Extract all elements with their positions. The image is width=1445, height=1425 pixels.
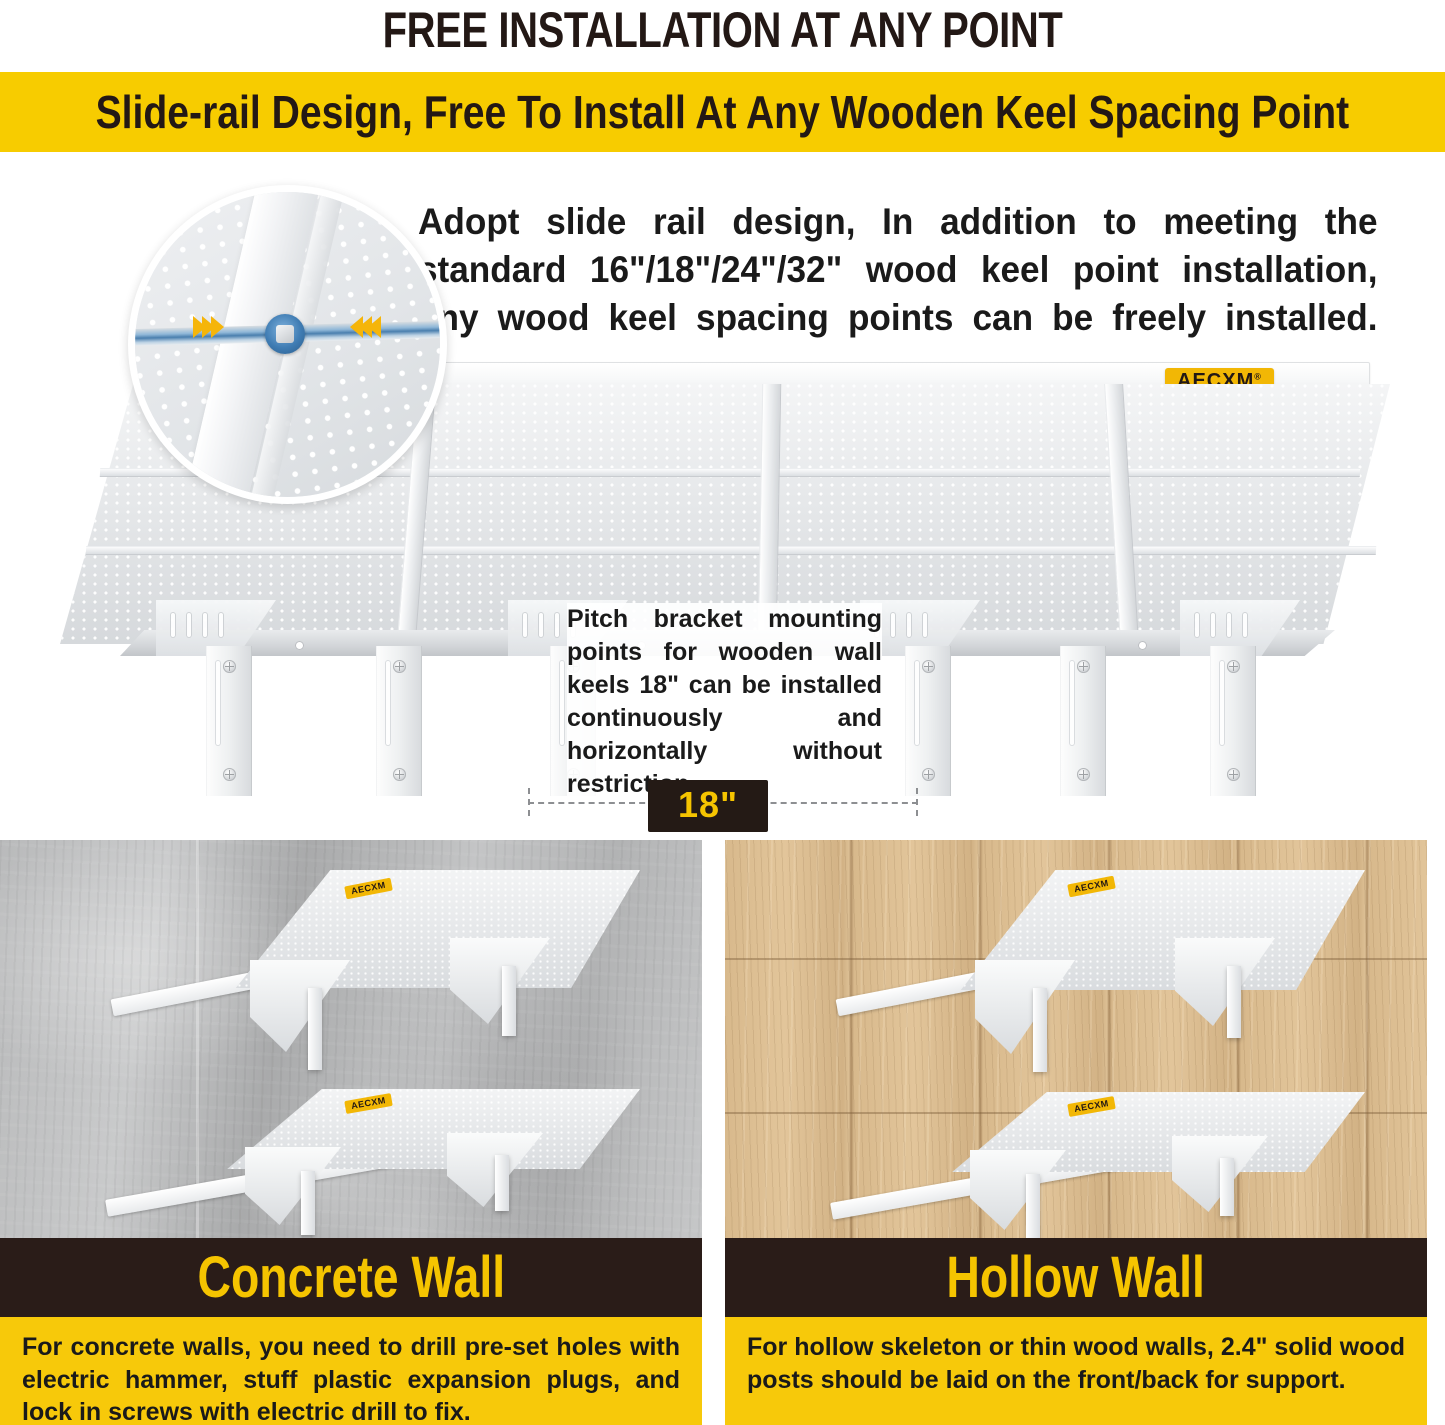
bracket-leg xyxy=(495,1155,509,1211)
screw-icon xyxy=(1077,768,1090,781)
concrete-wall-photo: AECXM AECXM xyxy=(0,840,702,1238)
panel-title-band: Hollow Wall xyxy=(725,1238,1427,1317)
support-bracket xyxy=(1210,646,1256,796)
slide-arrow-left-icon xyxy=(350,316,377,338)
bracket-leg xyxy=(308,988,322,1070)
shelf-lower: AECXM xyxy=(820,1078,1345,1238)
shelf-upper: AECXM xyxy=(100,860,620,1050)
screw-icon xyxy=(922,660,935,673)
support-bracket xyxy=(975,960,1075,1054)
support-bracket xyxy=(905,646,951,796)
screw-icon xyxy=(1077,660,1090,673)
pitch-note-measure: 18" xyxy=(639,671,679,699)
panel-body-text: For hollow skeleton or thin wood walls, … xyxy=(725,1317,1427,1396)
dimension-indicator: 18" xyxy=(528,782,918,824)
bracket-leg xyxy=(1220,1158,1234,1216)
deck-seam xyxy=(86,546,1376,555)
bracket-leg xyxy=(1227,966,1241,1038)
screw-icon xyxy=(393,768,406,781)
hero-description: Adopt slide rail design, In addition to … xyxy=(418,198,1378,342)
screw-icon xyxy=(223,660,236,673)
panel-body-band: For concrete walls, you need to drill pr… xyxy=(0,1317,702,1425)
support-bracket xyxy=(970,1150,1066,1230)
bracket-leg xyxy=(502,966,516,1036)
support-bracket xyxy=(206,646,252,796)
panel-title-band: Concrete Wall xyxy=(0,1238,702,1317)
panel-hollow-wall: AECXM AECXM Hollow Wall xyxy=(725,840,1427,1425)
screw-icon xyxy=(922,768,935,781)
panel-title: Hollow Wall xyxy=(947,1249,1206,1307)
wall-type-panels: AECXM AECXM Concrete Wall xyxy=(0,840,1445,1425)
bracket-leg xyxy=(301,1171,315,1235)
shelf-lower: AECXM xyxy=(95,1075,620,1235)
screw-icon xyxy=(393,660,406,673)
page-headline: FREE INSTALLATION AT ANY POINT xyxy=(145,0,1301,64)
pitch-bracket-note: Pitch bracket mounting points for wooden… xyxy=(567,603,882,801)
panel-title: Concrete Wall xyxy=(197,1249,505,1307)
screw-icon xyxy=(1227,768,1240,781)
support-bracket xyxy=(376,646,422,796)
bracket-leg xyxy=(1033,988,1047,1072)
screw-icon xyxy=(223,768,236,781)
lip-mounting-hole xyxy=(295,641,304,650)
bracket-leg xyxy=(1026,1174,1040,1238)
support-bracket xyxy=(250,960,350,1052)
support-bracket xyxy=(245,1147,341,1225)
hollow-wall-photo: AECXM AECXM xyxy=(725,840,1427,1238)
subhead-text: Slide-rail Design, Free To Install At An… xyxy=(96,85,1350,139)
infographic-page: FREE INSTALLATION AT ANY POINT Slide-rai… xyxy=(0,0,1445,1425)
slide-rail-detail-inset xyxy=(128,185,447,504)
subhead-banner: Slide-rail Design, Free To Install At An… xyxy=(0,72,1445,152)
dimension-tick xyxy=(528,788,530,816)
screw-icon xyxy=(1227,660,1240,673)
dimension-tick xyxy=(916,788,918,816)
panel-concrete-wall: AECXM AECXM Concrete Wall xyxy=(0,840,702,1425)
rail-bolt-icon xyxy=(265,314,305,354)
shelf-upper: AECXM xyxy=(825,860,1345,1055)
dimension-badge: 18" xyxy=(648,780,768,832)
slide-arrow-right-icon xyxy=(197,316,224,338)
support-bracket xyxy=(1060,646,1106,796)
registered-mark-icon: ® xyxy=(1254,371,1262,381)
panel-body-band: For hollow skeleton or thin wood walls, … xyxy=(725,1317,1427,1425)
lip-mounting-hole xyxy=(1138,641,1147,650)
panel-body-text: For concrete walls, you need to drill pr… xyxy=(0,1317,702,1425)
